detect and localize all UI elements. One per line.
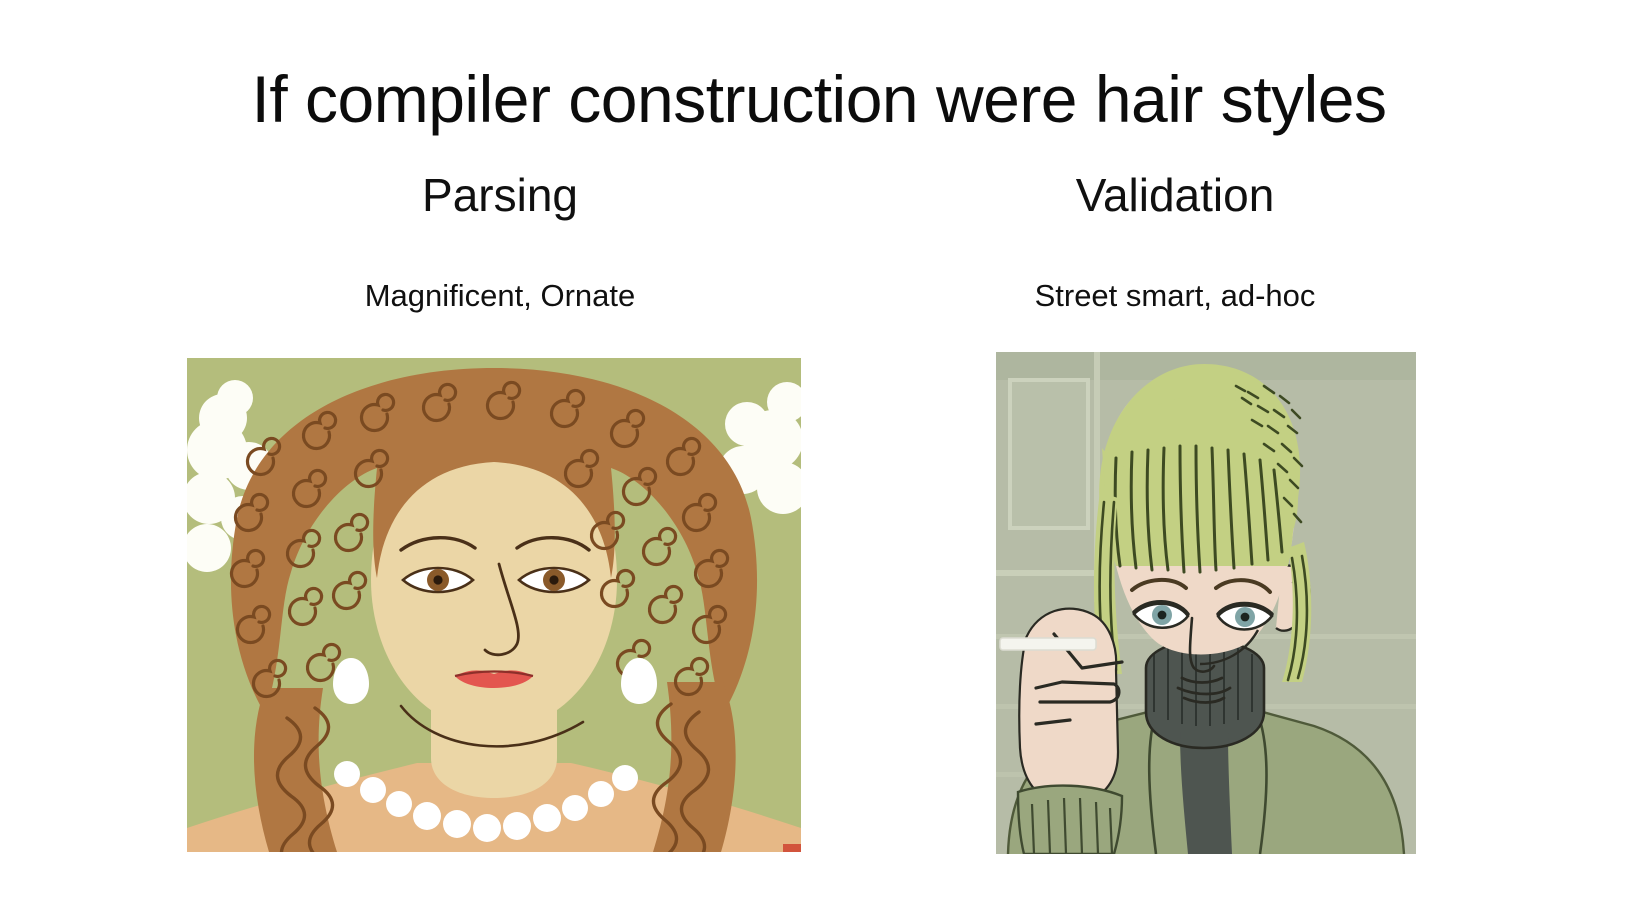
ornate-curly-hair-illustration xyxy=(187,358,801,852)
column-subtitle-parsing: Magnificent, Ornate xyxy=(150,277,850,314)
bowl-cut-smoker-illustration xyxy=(996,352,1416,854)
figure-validation-portrait xyxy=(996,352,1416,854)
column-heading-parsing: Parsing xyxy=(150,170,850,221)
column-subtitle-validation: Street smart, ad-hoc xyxy=(835,277,1515,314)
column-parsing: Parsing Magnificent, Ornate xyxy=(150,170,850,314)
column-heading-validation: Validation xyxy=(835,170,1515,221)
slide-title: If compiler construction were hair style… xyxy=(0,66,1638,132)
figure-parsing-portrait xyxy=(187,358,801,852)
slide-canvas: If compiler construction were hair style… xyxy=(0,0,1638,920)
column-validation: Validation Street smart, ad-hoc xyxy=(835,170,1515,314)
